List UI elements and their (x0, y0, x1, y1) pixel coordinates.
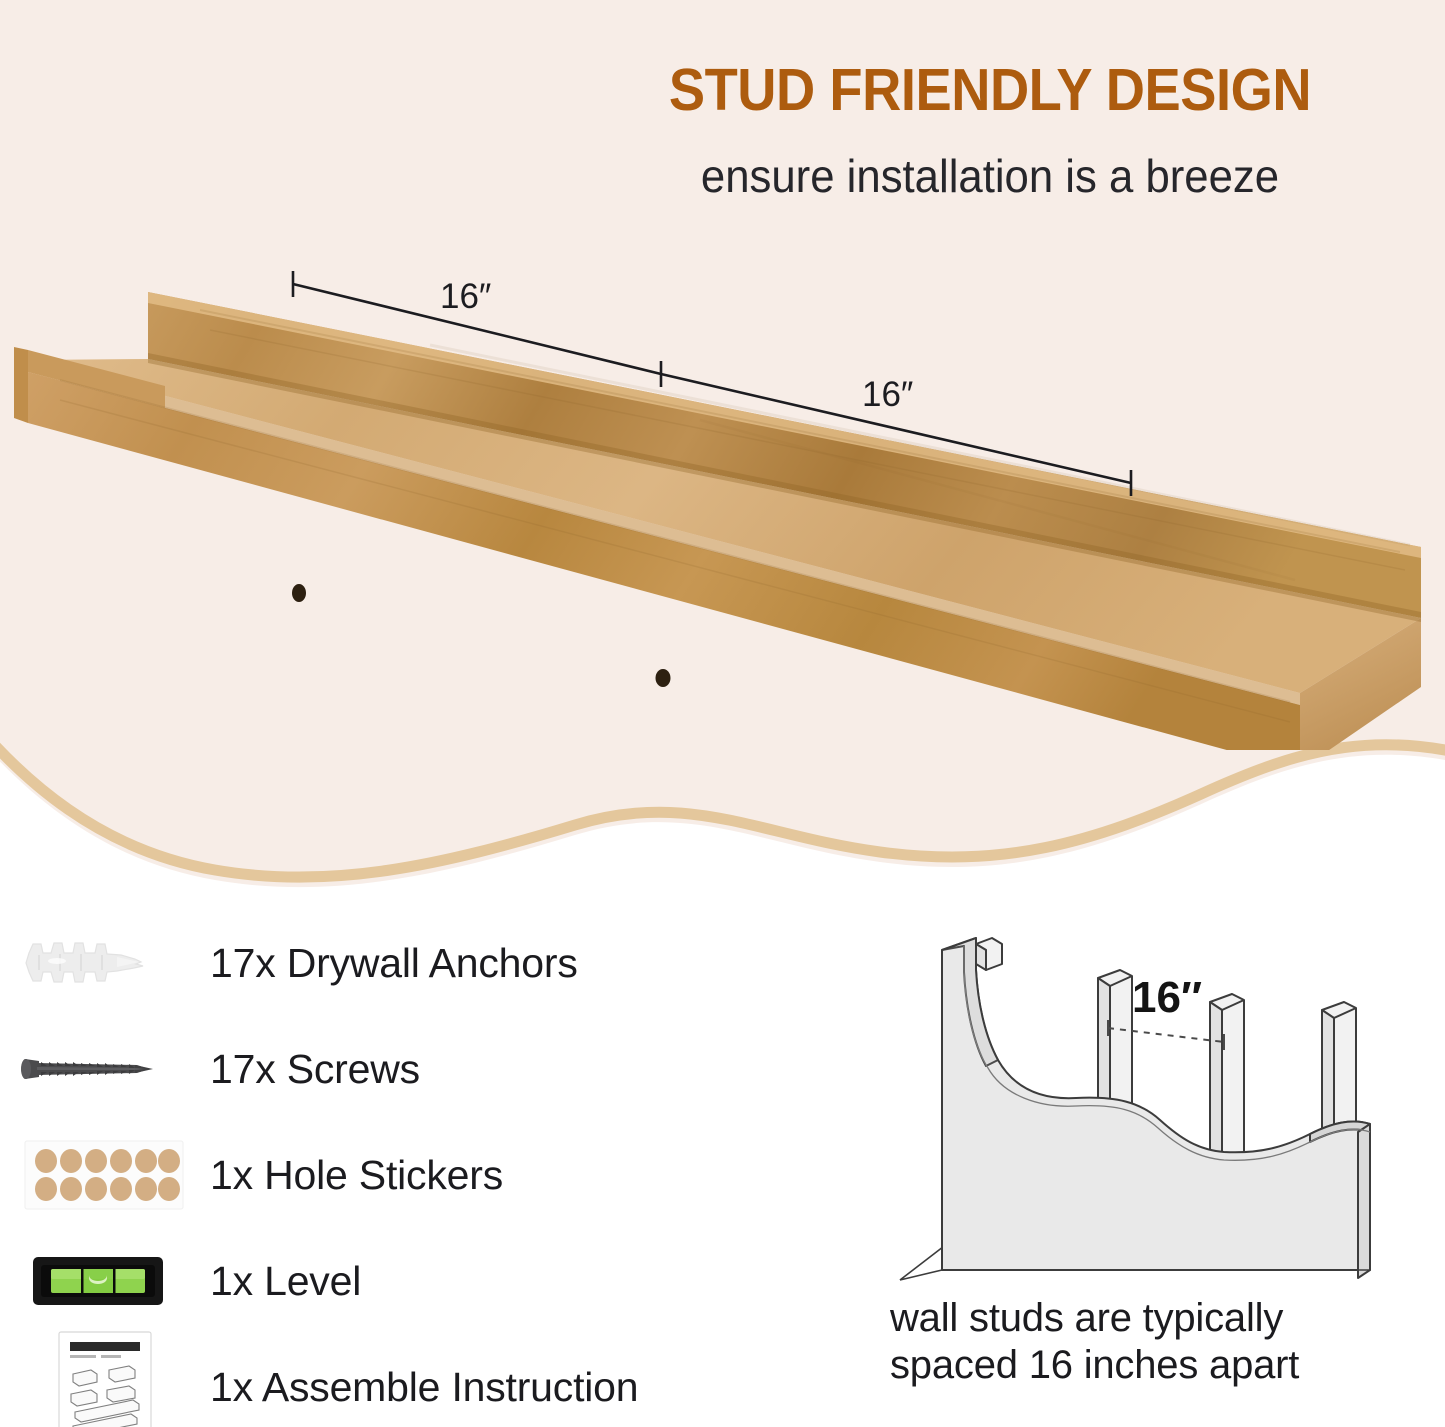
stud-caption-line-1: wall studs are typically (890, 1295, 1440, 1342)
shelf-body (14, 292, 1421, 750)
lower-section: 17x Drywall Anchors (0, 900, 1445, 1427)
wall-stud-diagram: 16″ (880, 920, 1420, 1300)
mounting-hole (292, 584, 306, 602)
hero-section: STUD FRIENDLY DESIGN ensure installation… (0, 0, 1445, 920)
shelf-left-endcap (14, 347, 28, 423)
dimension-label-right: 16″ (862, 375, 913, 415)
shelf-illustration (0, 250, 1445, 750)
list-item: 1x Hole Stickers (0, 1122, 820, 1228)
wall-stud (976, 938, 1002, 970)
list-item-label: 17x Drywall Anchors (210, 940, 578, 987)
page-headline: STUD FRIENDLY DESIGN (594, 57, 1385, 123)
drywall-anchor-icon (0, 910, 210, 1016)
list-item-label: 1x Assemble Instruction (210, 1364, 638, 1411)
list-item: 17x Screws (0, 1016, 820, 1122)
list-item: 1x Level (0, 1228, 820, 1334)
stud-diagram-caption: wall studs are typically spaced 16 inche… (890, 1295, 1440, 1389)
hole-stickers-icon (0, 1122, 210, 1228)
page-subheadline: ensure installation is a breeze (582, 148, 1399, 204)
dimension-label-left: 16″ (440, 277, 491, 317)
level-icon (0, 1228, 210, 1334)
list-item: 17x Drywall Anchors (0, 910, 820, 1016)
screw-icon (0, 1016, 210, 1122)
list-item: 1x Assemble Instruction (0, 1334, 820, 1427)
stud-dimension-label: 16″ (1132, 973, 1202, 1022)
mounting-hole (656, 669, 671, 687)
list-item-label: 1x Hole Stickers (210, 1152, 503, 1199)
list-item-label: 1x Level (210, 1258, 361, 1305)
infographic-page: STUD FRIENDLY DESIGN ensure installation… (0, 0, 1445, 1427)
list-item-label: 17x Screws (210, 1046, 420, 1093)
stud-caption-line-2: spaced 16 inches apart (890, 1342, 1440, 1389)
instruction-sheet-icon (0, 1334, 210, 1427)
